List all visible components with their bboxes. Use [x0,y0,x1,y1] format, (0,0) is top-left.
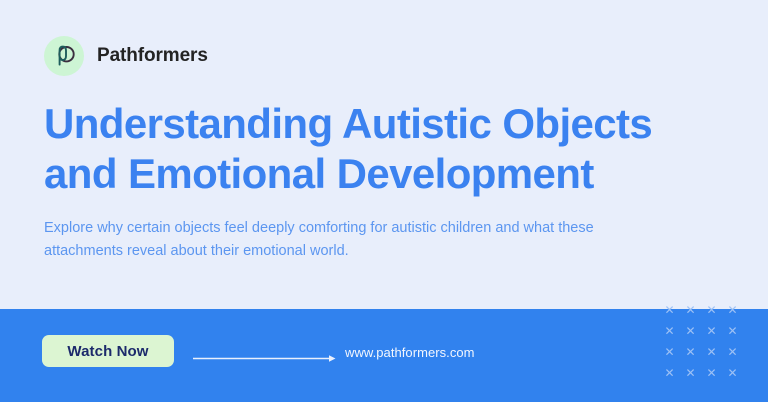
page-title: Understanding Autistic Objects and Emoti… [44,99,704,199]
page-subtitle: Explore why certain objects feel deeply … [44,217,624,263]
brand-lockup: Pathformers [44,36,208,76]
banner-top-section: Pathformers Understanding Autistic Objec… [0,0,768,309]
arrow-right-icon [193,350,337,359]
promo-banner: Pathformers Understanding Autistic Objec… [0,0,768,402]
pathformers-p-monogram-icon [44,36,84,76]
banner-footer-bar: Watch Now www.pathformers.com [0,309,768,402]
website-url[interactable]: www.pathformers.com [345,345,475,360]
brand-name: Pathformers [97,45,208,67]
watch-now-button[interactable]: Watch Now [42,335,174,367]
